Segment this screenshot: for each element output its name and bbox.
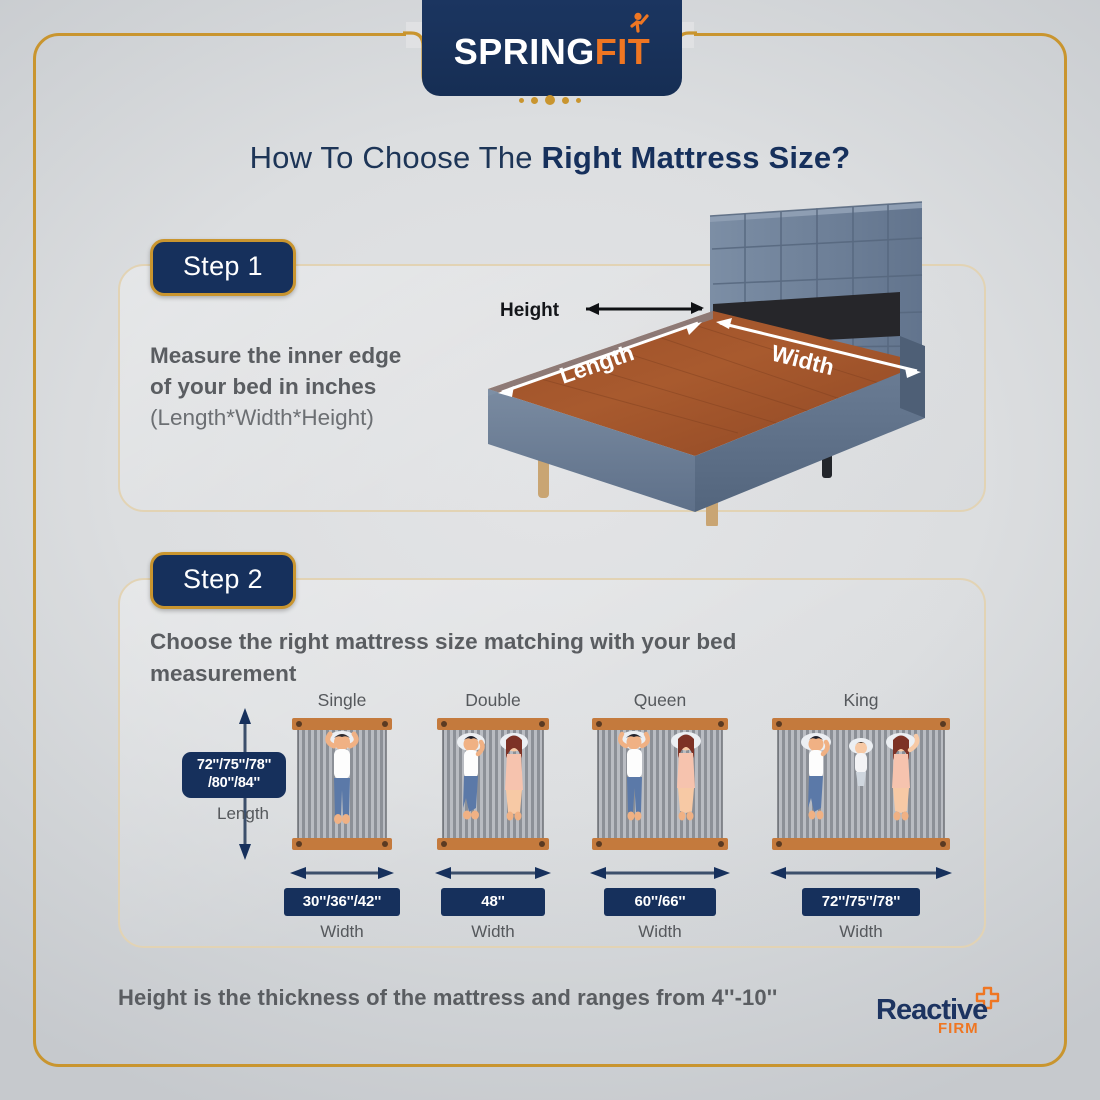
length-value-line2: /80''/84''	[186, 775, 282, 793]
queen-width-badge: 60''/66''	[604, 888, 716, 916]
step1-badge: Step 1	[150, 239, 296, 296]
mattress-single-frame	[290, 716, 394, 857]
page-title: How To Choose The Right Mattress Size?	[0, 140, 1100, 176]
king-width-badge: 72''/75''/78''	[802, 888, 920, 916]
mattress-queen-title: Queen	[590, 690, 730, 711]
step1-line2: of your bed in inches	[150, 371, 480, 402]
mattress-double-title: Double	[435, 690, 551, 711]
double-width-badge: 48''	[441, 888, 545, 916]
single-width-badge: 30''/36''/42''	[284, 888, 400, 916]
firm-wordmark: FIRM	[938, 1020, 979, 1037]
step1-line1: Measure the inner edge	[150, 340, 480, 371]
footer-note: Height is the thickness of the mattress …	[118, 985, 777, 1011]
decorative-dots	[0, 95, 1100, 105]
mattress-double-frame	[435, 716, 551, 857]
mattress-single-title: Single	[290, 690, 394, 711]
page-title-plain: How To Choose The	[250, 140, 542, 175]
step2-badge: Step 2	[150, 552, 296, 609]
step1-line3: (Length*Width*Height)	[150, 402, 480, 433]
single-width-caption: Width	[290, 922, 394, 942]
queen-width-arrow-icon	[590, 866, 730, 880]
length-value-line1: 72''/75''/78''	[186, 757, 282, 775]
logo-primary-text: SPRING	[454, 31, 595, 72]
logo-accent-text: FIT	[595, 31, 650, 72]
step1-instruction: Measure the inner edge of your bed in in…	[150, 340, 480, 433]
king-width-arrow-icon	[770, 866, 952, 880]
brand-logo-panel: SPRINGFIT	[422, 0, 682, 96]
step2-line1: Choose the right mattress size matching …	[150, 626, 870, 658]
bed-illustration: Height Length Width	[470, 196, 980, 526]
running-person-icon	[626, 11, 652, 37]
svg-text:Height: Height	[500, 300, 560, 321]
length-caption: Length	[188, 804, 298, 824]
mattress-size-row: 72''/75''/78'' /80''/84'' Length Single	[150, 690, 980, 940]
king-width-caption: Width	[770, 922, 952, 942]
brand-logo-text: SPRINGFIT	[454, 31, 651, 73]
height-dimension-label: Height	[500, 300, 704, 321]
mattress-king-title: King	[770, 690, 952, 711]
mattress-queen-frame	[590, 716, 730, 857]
queen-width-caption: Width	[590, 922, 730, 942]
step2-instruction: Choose the right mattress size matching …	[150, 626, 870, 690]
step2-line2: measurement	[150, 658, 870, 690]
double-width-arrow-icon	[435, 866, 551, 880]
page-title-bold: Right Mattress Size?	[542, 140, 851, 175]
reactive-firm-logo: Reactive FIRM	[876, 986, 1036, 1038]
length-value-badge: 72''/75''/78'' /80''/84''	[182, 752, 286, 798]
double-width-caption: Width	[435, 922, 551, 942]
single-width-arrow-icon	[290, 866, 394, 880]
mattress-king-frame	[770, 716, 952, 857]
